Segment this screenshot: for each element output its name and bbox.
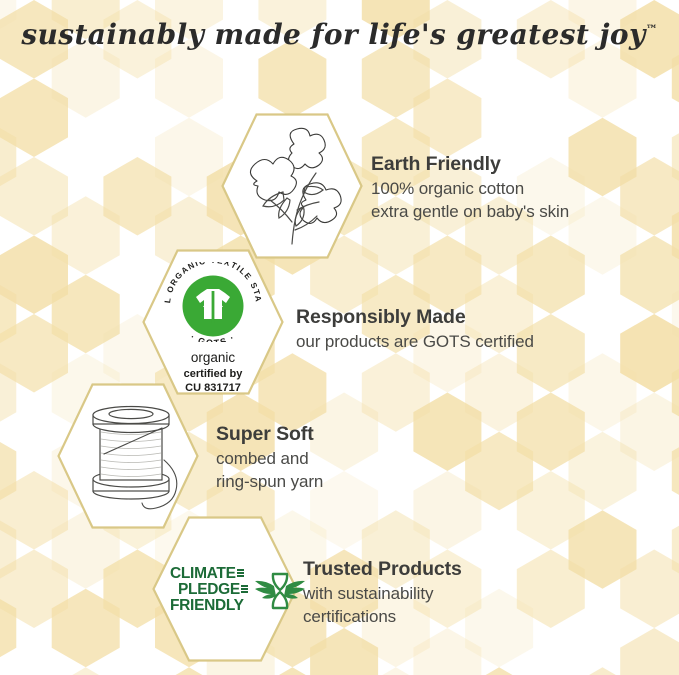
thread-spool-icon bbox=[76, 398, 191, 516]
cpf-line-3: FRIENDLY bbox=[170, 598, 244, 614]
gots-license: CU 831717 bbox=[143, 382, 283, 396]
sustainability-infographic: sustainably made for life's greatest joy… bbox=[0, 0, 679, 675]
feature-line: extra gentle on baby's skin bbox=[371, 201, 569, 224]
gots-certified-by: certified by bbox=[143, 368, 283, 382]
page-title: sustainably made for life's greatest joy… bbox=[0, 18, 679, 51]
cpf-line-2: PLEDGE bbox=[178, 582, 240, 598]
cpf-bars-icon bbox=[241, 585, 248, 595]
trademark-symbol: ™ bbox=[646, 23, 658, 37]
feature-text-responsibly-made: Responsibly Made our products are GOTS c… bbox=[296, 305, 534, 354]
feature-title: Responsibly Made bbox=[296, 305, 534, 329]
feature-line: combed and bbox=[216, 448, 323, 471]
gots-organic-seal-icon: GLOBAL ORGANIC TEXTILE STANDARD · GOTS · bbox=[143, 262, 283, 342]
climate-pledge-friendly-badge: CLIMATE PLEDGE FRIENDLY bbox=[170, 566, 306, 613]
winged-hourglass-icon bbox=[254, 568, 306, 612]
feature-text-super-soft: Super Soft combed and ring-spun yarn bbox=[216, 422, 323, 494]
feature-title: Earth Friendly bbox=[371, 152, 569, 176]
headline-text: sustainably made for life's greatest joy bbox=[21, 18, 645, 51]
feature-title: Super Soft bbox=[216, 422, 323, 446]
feature-title: Trusted Products bbox=[303, 557, 462, 581]
feature-text-trusted-products: Trusted Products with sustainability cer… bbox=[303, 557, 462, 629]
feature-line: with sustainability bbox=[303, 583, 462, 606]
feature-line: certifications bbox=[303, 606, 462, 629]
gots-label: organic bbox=[143, 350, 283, 365]
feature-line: 100% organic cotton bbox=[371, 178, 569, 201]
cpf-line-1: CLIMATE bbox=[170, 566, 236, 582]
feature-line: our products are GOTS certified bbox=[296, 331, 534, 354]
climate-pledge-wordmark: CLIMATE PLEDGE FRIENDLY bbox=[170, 566, 248, 613]
gots-badge: GLOBAL ORGANIC TEXTILE STANDARD · GOTS ·… bbox=[143, 262, 283, 396]
cotton-boll-icon bbox=[235, 126, 350, 246]
cpf-bars-icon bbox=[237, 569, 244, 579]
feature-text-earth-friendly: Earth Friendly 100% organic cotton extra… bbox=[371, 152, 569, 224]
feature-line: ring-spun yarn bbox=[216, 471, 323, 494]
